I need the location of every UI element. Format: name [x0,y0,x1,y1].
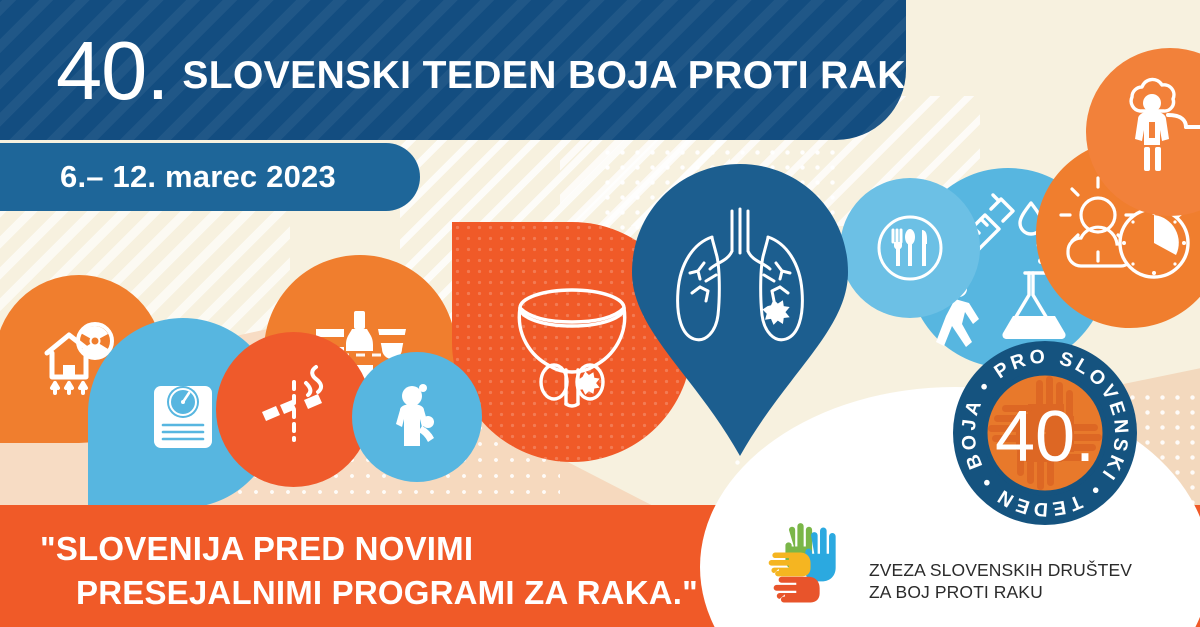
icon-pin-air-pollution [1086,48,1200,216]
page-title: SLOVENSKI TEDEN BOJA PROTI RAKU [182,54,906,98]
cutlery-plate-icon [840,178,980,318]
association-line-1: ZVEZA SLOVENSKIH DRUŠTEV [869,559,1132,581]
header-bar: 40. SLOVENSKI TEDEN BOJA PROTI RAKU [0,0,906,140]
no-smoking-icon [216,332,371,487]
icon-pin-breastfeeding [352,352,482,482]
slogan-line-2: PRESEJALNIMI PROGRAMI ZA RAKA." [76,571,698,615]
association-line-2: ZA BOJ PROTI RAKU [869,581,1132,603]
pollution-worker-icon [1086,48,1200,216]
hand-orange [774,577,820,603]
four-hands-logo-icon [765,517,857,609]
header-content: 40. SLOVENSKI TEDEN BOJA PROTI RAKU [56,0,906,140]
association-name: ZVEZA SLOVENSKIH DRUŠTEV ZA BOJ PROTI RA… [869,559,1132,609]
icon-pin-healthy-diet [840,178,980,318]
badge-center-number: 40. [995,397,1095,477]
slogan: "SLOVENIJA PRED NOVIMI PRESEJALNIMI PROG… [40,527,698,614]
anniversary-badge: SLOVENSKI • TEDEN • BOJA • PROTI • RAKU … [950,338,1140,528]
cancer-week-banner: 40. SLOVENSKI TEDEN BOJA PROTI RAKU 6.– … [0,0,1200,627]
association-logo: ZVEZA SLOVENSKIH DRUŠTEV ZA BOJ PROTI RA… [765,517,1132,609]
hand-yellow [769,553,811,577]
edition-number: 40. [56,29,168,112]
slogan-line-1: "SLOVENIJA PRED NOVIMI [40,530,473,567]
icon-pin-no-smoking [216,332,371,487]
date-badge: 6.– 12. marec 2023 [0,143,420,211]
lungs-icon [624,160,856,392]
date-range-text: 6.– 12. marec 2023 [60,159,336,195]
breastfeeding-icon [352,352,482,482]
